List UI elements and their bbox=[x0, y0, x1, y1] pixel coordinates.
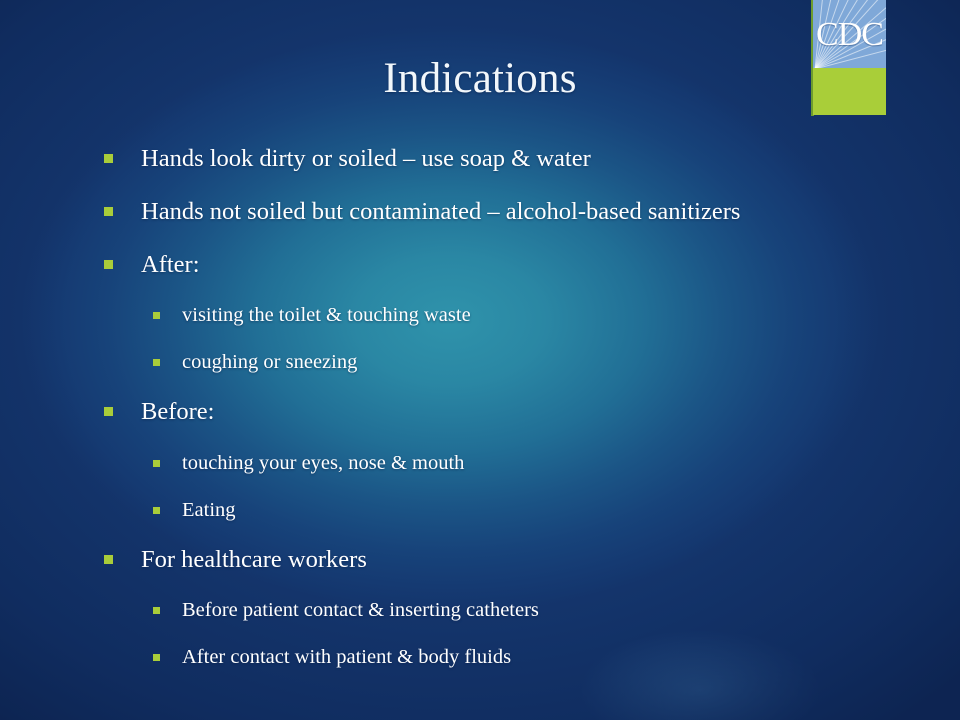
sub-bullet-square-icon bbox=[153, 507, 160, 514]
bullet-item: For healthcare workers bbox=[104, 544, 894, 575]
bullet-square-icon bbox=[104, 555, 113, 564]
sub-bullet-text: visiting the toilet & touching waste bbox=[182, 302, 894, 328]
bullet-item: After: bbox=[104, 249, 894, 280]
sub-bullet-text: After contact with patient & body fluids bbox=[182, 644, 894, 670]
sub-bullet-item: Before patient contact & inserting cathe… bbox=[153, 597, 894, 623]
sub-bullet-text: Before patient contact & inserting cathe… bbox=[182, 597, 894, 623]
sub-bullet-text: Eating bbox=[182, 497, 894, 523]
sub-bullet-text: coughing or sneezing bbox=[182, 349, 894, 375]
slide-title: Indications bbox=[0, 55, 960, 103]
bullet-square-icon bbox=[104, 207, 113, 216]
slide-body-list: Hands look dirty or soiled – use soap & … bbox=[104, 143, 894, 691]
bullet-text: After: bbox=[141, 249, 894, 280]
sub-bullet-item: touching your eyes, nose & mouth bbox=[153, 450, 894, 476]
sub-bullet-text: touching your eyes, nose & mouth bbox=[182, 450, 894, 476]
sub-bullet-square-icon bbox=[153, 460, 160, 467]
sub-bullet-item: After contact with patient & body fluids bbox=[153, 644, 894, 670]
sub-bullet-square-icon bbox=[153, 607, 160, 614]
bullet-text: Before: bbox=[141, 396, 894, 427]
bullet-square-icon bbox=[104, 154, 113, 163]
bullet-square-icon bbox=[104, 407, 113, 416]
bullet-text: Hands not soiled but contaminated – alco… bbox=[141, 196, 894, 227]
sub-bullet-square-icon bbox=[153, 654, 160, 661]
bullet-item: Hands look dirty or soiled – use soap & … bbox=[104, 143, 894, 174]
sub-bullet-item: visiting the toilet & touching waste bbox=[153, 302, 894, 328]
bullet-text: Hands look dirty or soiled – use soap & … bbox=[141, 143, 894, 174]
sub-bullet-square-icon bbox=[153, 359, 160, 366]
presentation-slide: CDC Indications Hands look dirty or soil… bbox=[0, 0, 960, 720]
bullet-item: Hands not soiled but contaminated – alco… bbox=[104, 196, 894, 227]
sub-bullet-item: coughing or sneezing bbox=[153, 349, 894, 375]
sub-bullet-square-icon bbox=[153, 312, 160, 319]
sub-bullet-item: Eating bbox=[153, 497, 894, 523]
bullet-square-icon bbox=[104, 260, 113, 269]
bullet-text: For healthcare workers bbox=[141, 544, 894, 575]
bullet-item: Before: bbox=[104, 396, 894, 427]
